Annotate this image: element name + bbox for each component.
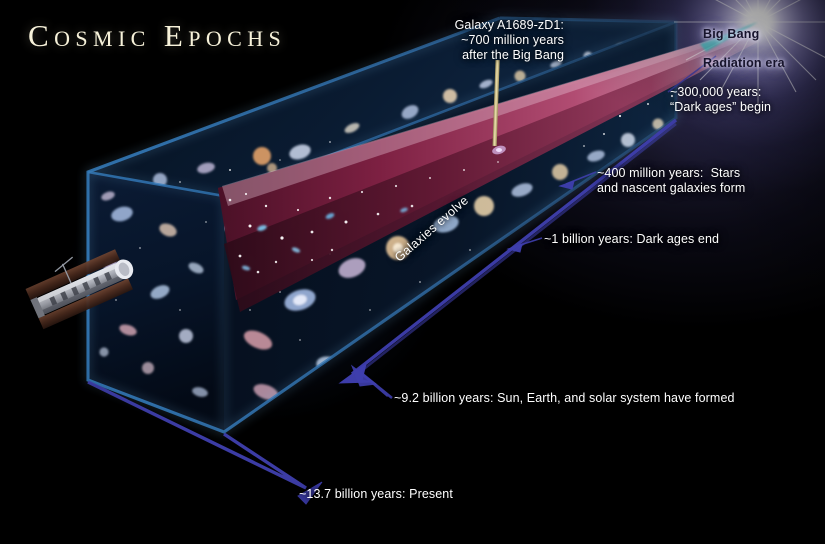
annotation-present: ~13.7 billion years: Present: [299, 487, 453, 502]
diagram-artwork: [0, 0, 825, 544]
annotation-stars-form: ~400 million years: Stars and nascent ga…: [597, 166, 745, 196]
annotation-solar-system: ~9.2 billion years: Sun, Earth, and sola…: [394, 391, 735, 406]
annotation-galaxy-a1689: Galaxy A1689-zD1: ~700 million years aft…: [444, 18, 564, 63]
annotation-radiation-era: Radiation era: [703, 56, 785, 71]
cosmic-epochs-diagram: Cosmic Epochs Galaxy A1689-zD1: ~700 mil…: [0, 0, 825, 544]
annotation-dark-ages-end: ~1 billion years: Dark ages end: [544, 232, 719, 247]
annotation-big-bang: Big Bang: [703, 27, 759, 42]
page-title: Cosmic Epochs: [28, 18, 286, 54]
annotation-dark-ages-begin: ~300,000 years: “Dark ages” begin: [670, 85, 771, 115]
